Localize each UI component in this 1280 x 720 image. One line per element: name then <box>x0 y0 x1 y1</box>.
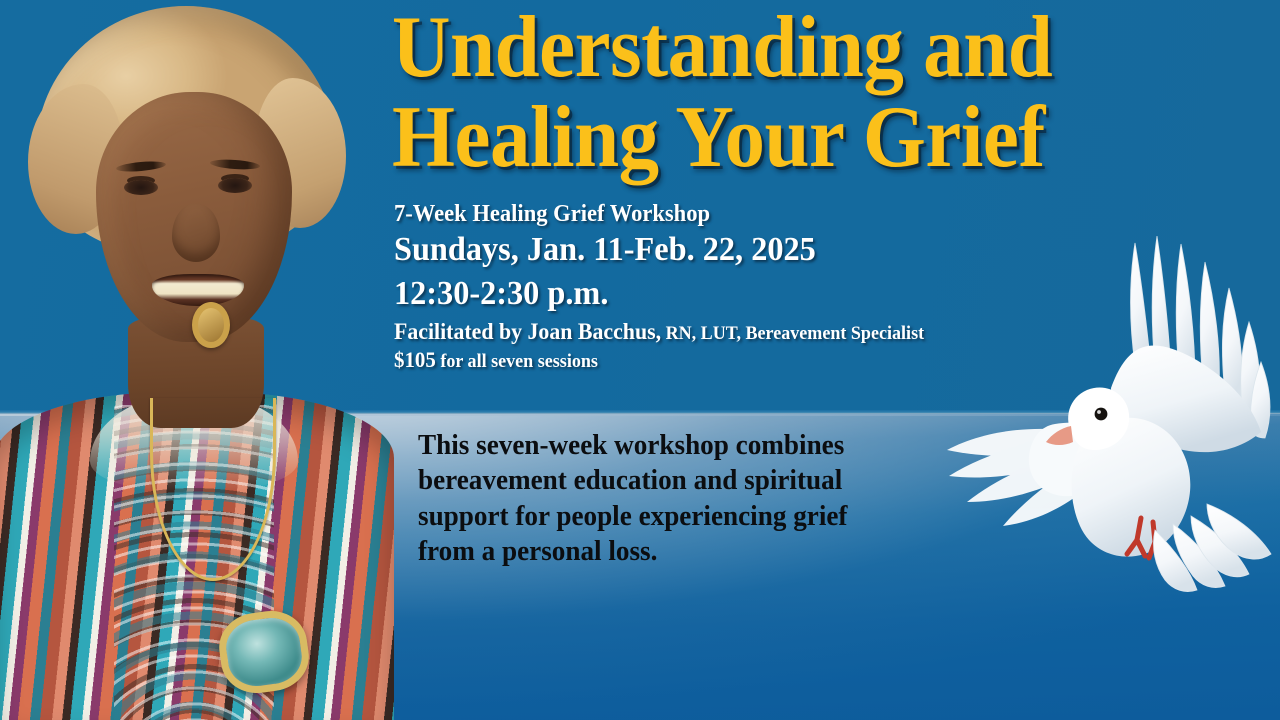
workshop-description: This seven-week workshop combines bereav… <box>418 428 961 569</box>
title-line-1: Understanding and <box>392 6 1137 90</box>
facilitator-line: Facilitated by Joan Bacchus, RN, LUT, Be… <box>394 318 1059 346</box>
price-line: $105 for all seven sessions <box>394 347 1059 374</box>
title-line-2: Healing Your Grief <box>392 96 1137 180</box>
description-line-3: support for people experiencing grief <box>418 499 961 534</box>
description-line-4: from a personal loss. <box>418 534 961 569</box>
description-line-1: This seven-week workshop combines <box>418 428 961 463</box>
facilitator-name: Facilitated by Joan Bacchus, <box>394 319 661 344</box>
workshop-dates: Sundays, Jan. 11-Feb. 22, 2025 <box>394 228 1059 272</box>
price-amount: $105 <box>394 347 436 372</box>
grief-workshop-flyer: Understanding and Healing Your Grief 7-W… <box>0 0 1280 720</box>
workshop-details: 7-Week Healing Grief Workshop Sundays, J… <box>394 200 1094 374</box>
price-note: for all seven sessions <box>436 351 598 372</box>
flyer-title: Understanding and Healing Your Grief <box>392 6 1202 179</box>
facilitator-credentials: RN, LUT, Bereavement Specialist <box>661 323 924 344</box>
workshop-kicker: 7-Week Healing Grief Workshop <box>394 200 1052 228</box>
workshop-time: 12:30-2:30 p.m. <box>394 272 1059 316</box>
description-line-2: bereavement education and spiritual <box>418 463 961 498</box>
